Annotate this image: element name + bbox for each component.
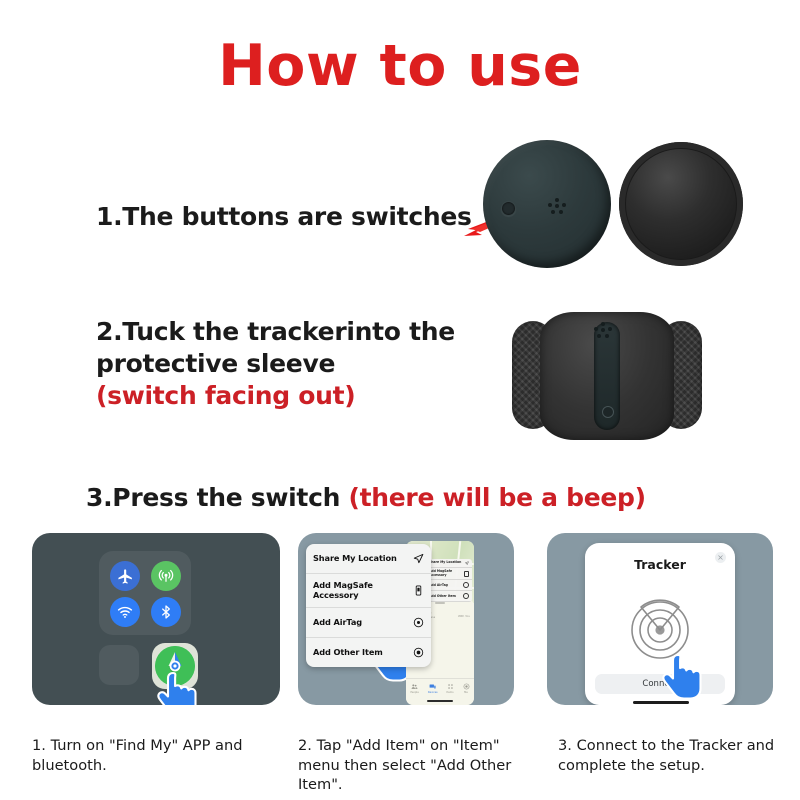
step-3-text: 3.Press the switch (there will be a beep… xyxy=(86,482,646,514)
step-1-text: 1.The buttons are switches xyxy=(96,201,472,233)
caption-1: 1. Turn on "Find My" APP and bluetooth. xyxy=(32,736,282,775)
connect-button[interactable]: Connect xyxy=(595,674,725,694)
step-2-note: (switch facing out) xyxy=(96,381,355,410)
airtag-icon xyxy=(463,582,469,588)
step-3-label: Press the switch xyxy=(112,483,340,512)
menu-item-add-magsafe-accessory[interactable]: Add MagSafe Accessory xyxy=(306,574,431,608)
location-arrow-icon xyxy=(465,561,469,565)
add-item-menu: Share My Location Add MagSafe Accessory … xyxy=(306,544,431,667)
sleeve-slot xyxy=(594,322,620,430)
page-title: How to use xyxy=(0,33,800,99)
location-arrow-icon xyxy=(413,553,424,564)
tracker-front-device xyxy=(619,142,743,266)
tracker-speaker-grille-icon xyxy=(548,198,566,216)
mini-tab-label: Devices xyxy=(428,691,438,694)
mini-menu-item-label: Add MagSafe Accessory xyxy=(429,570,464,577)
airtag-icon xyxy=(413,617,424,628)
home-indicator xyxy=(633,701,689,704)
home-indicator xyxy=(427,700,453,702)
caption-3-body: Connect to the Tracker and complete the … xyxy=(558,737,774,774)
step-1-number: 1. xyxy=(96,202,122,231)
bluetooth-icon[interactable] xyxy=(151,597,181,627)
tracker-dialog: Tracker × Connect xyxy=(585,543,735,705)
mini-tab-label: Me xyxy=(464,691,468,694)
close-icon[interactable]: × xyxy=(715,552,726,563)
step-2-line2: protective sleeve xyxy=(96,349,335,378)
caption-1-body: Turn on "Find My" APP and bluetooth. xyxy=(32,737,242,774)
step-2-number: 2. xyxy=(96,317,122,346)
mini-tab-label: Items xyxy=(447,691,454,694)
radar-icon xyxy=(623,588,697,662)
device-meta-label: With You xyxy=(458,614,470,618)
people-icon xyxy=(411,683,418,690)
wifi-icon[interactable] xyxy=(110,597,140,627)
menu-item-label: Add AirTag xyxy=(313,617,362,627)
items-icon xyxy=(447,683,454,690)
dialog-title: Tracker xyxy=(585,557,735,572)
step-1-label: The buttons are switches xyxy=(122,202,471,231)
magsafe-device-icon xyxy=(413,585,424,596)
find-my-icon xyxy=(155,646,195,686)
sleeve-body xyxy=(540,312,674,440)
menu-item-label: Share My Location xyxy=(313,553,397,563)
mini-menu-item-label: Add AirTag xyxy=(429,584,448,588)
protective-sleeve xyxy=(512,312,702,440)
mini-tab-bar: People Devices Items Me xyxy=(406,678,474,697)
other-item-icon xyxy=(463,593,469,599)
how-to-use-infographic: How to use 1.The buttons are switches 2.… xyxy=(0,0,800,800)
mini-menu-item: Share My Location xyxy=(426,559,472,568)
caption-1-number: 1. xyxy=(32,737,46,754)
mini-menu-item-label: Add Other Item xyxy=(429,595,456,599)
magsafe-device-icon xyxy=(464,571,469,577)
menu-item-label: Add Other Item xyxy=(313,647,383,657)
tracker-switch-button xyxy=(501,201,516,216)
mini-menu-item: Add MagSafe Accessory xyxy=(426,568,472,580)
airplane-mode-icon[interactable] xyxy=(110,561,140,591)
mini-menu-item-label: Share My Location xyxy=(429,561,461,565)
sheet-grabber xyxy=(435,602,445,604)
find-my-app-tile[interactable] xyxy=(152,643,198,689)
cellular-data-icon[interactable] xyxy=(151,561,181,591)
caption-2-number: 2. xyxy=(298,737,312,754)
panel-tracker-dialog: Tracker × Connect xyxy=(547,533,773,705)
tracker-back-device xyxy=(483,140,611,268)
mini-tab-items[interactable]: Items xyxy=(447,683,454,694)
control-center-blank-tile xyxy=(99,645,139,685)
mini-tab-devices[interactable]: Devices xyxy=(428,683,438,694)
menu-item-add-airtag[interactable]: Add AirTag xyxy=(306,608,431,638)
control-center-toggle-group xyxy=(99,551,191,635)
menu-item-label: Add MagSafe Accessory xyxy=(313,580,413,601)
menu-item-share-my-location[interactable]: Share My Location xyxy=(306,544,431,574)
step-2-text: 2.Tuck the trackerinto the protective sl… xyxy=(96,316,476,412)
caption-2-body: Tap "Add Item" on "Item" menu then selec… xyxy=(298,737,511,793)
mini-menu: Share My Location Add MagSafe Accessory … xyxy=(426,559,472,602)
mini-tab-me[interactable]: Me xyxy=(463,683,470,694)
mini-menu-item: Add Other Item xyxy=(426,591,472,602)
mini-tab-people[interactable]: People xyxy=(410,683,418,694)
caption-3: 3. Connect to the Tracker and complete t… xyxy=(558,736,798,775)
sleeve-switch-button xyxy=(602,406,614,418)
mini-tab-label: People xyxy=(410,691,418,694)
step-2-line1: Tuck the trackerinto the xyxy=(122,317,455,346)
me-icon xyxy=(463,683,470,690)
other-item-icon xyxy=(413,647,424,658)
devices-icon xyxy=(429,683,436,690)
caption-2: 2. Tap "Add Item" on "Item" menu then se… xyxy=(298,736,523,795)
panel-find-my-menu: Share My Location Add MagSafe Accessory … xyxy=(298,533,514,705)
menu-item-add-other-item[interactable]: Add Other Item xyxy=(306,638,431,667)
panel-control-center xyxy=(32,533,280,705)
step-3-number: 3. xyxy=(86,483,112,512)
mini-menu-item: Add AirTag xyxy=(426,580,472,591)
step-3-note: (there will be a beep) xyxy=(349,483,646,512)
caption-3-number: 3. xyxy=(558,737,572,754)
